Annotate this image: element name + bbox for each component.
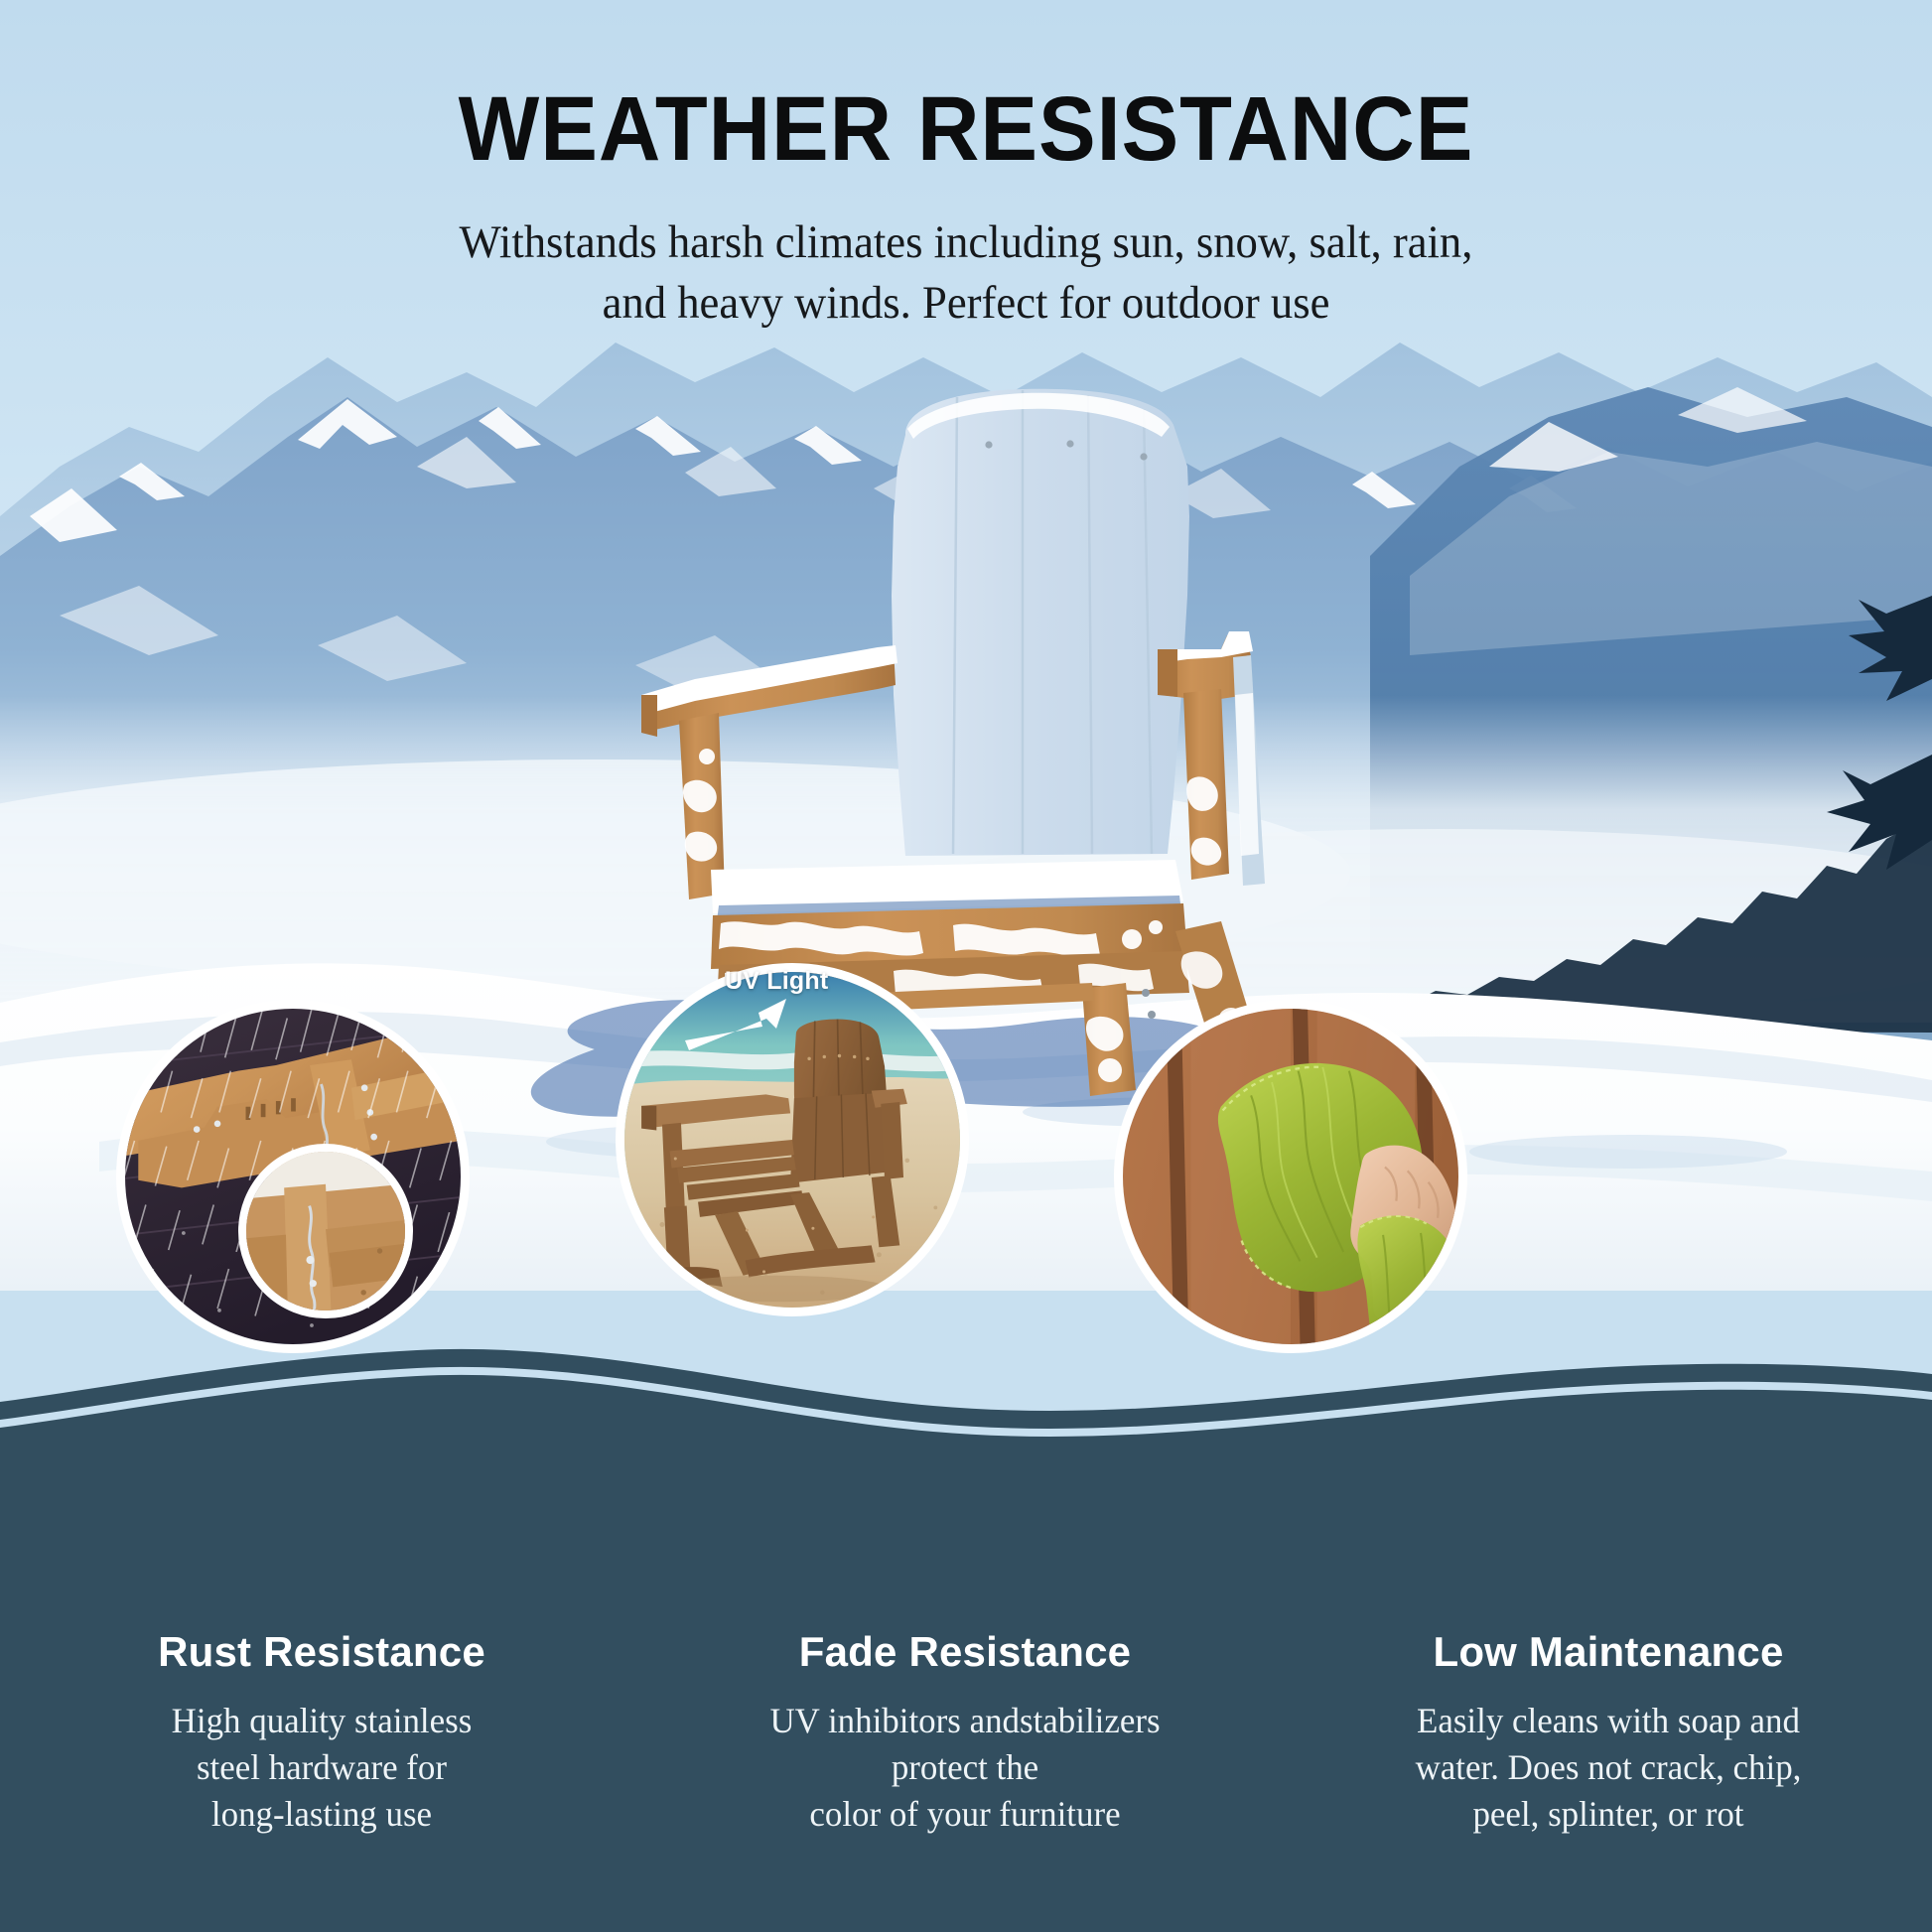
feature-image-rust-inset-detail <box>238 1144 413 1318</box>
subtitle-line-2: and heavy winds. Perfect for outdoor use <box>49 273 1884 334</box>
feature-desc-fade-line-1: UV inhibitors andstabilizers <box>678 1698 1252 1744</box>
feature-title-fade: Fade Resistance <box>669 1628 1261 1676</box>
feature-desc-rust-line-1: High quality stainless <box>35 1698 609 1744</box>
feature-rust-resistance: Rust Resistance High quality stainless s… <box>0 1628 643 1837</box>
feature-fade-resistance: Fade Resistance UV inhibitors andstabili… <box>643 1628 1287 1837</box>
feature-desc-rust-line-2: steel hardware for <box>35 1744 609 1791</box>
feature-desc-maintenance-line-3: peel, splinter, or rot <box>1321 1791 1895 1838</box>
weather-resistance-infographic: WEATHER RESISTANCE Withstands harsh clim… <box>0 0 1932 1932</box>
feature-desc-rust: High quality stainless steel hardware fo… <box>35 1698 609 1837</box>
feature-desc-fade: UV inhibitors andstabilizers protect the… <box>678 1698 1252 1837</box>
feature-title-rust: Rust Resistance <box>26 1628 618 1676</box>
feature-desc-maintenance: Easily cleans with soap and water. Does … <box>1321 1698 1895 1837</box>
feature-desc-fade-line-2: protect the <box>678 1744 1252 1791</box>
page-title: WEATHER RESISTANCE <box>58 83 1873 175</box>
page-subtitle: Withstands harsh climates including sun,… <box>49 212 1884 334</box>
feature-low-maintenance: Low Maintenance Easily cleans with soap … <box>1287 1628 1930 1837</box>
feature-title-maintenance: Low Maintenance <box>1312 1628 1904 1676</box>
header: WEATHER RESISTANCE Withstands harsh clim… <box>0 0 1932 334</box>
feature-desc-maintenance-line-2: water. Does not crack, chip, <box>1321 1744 1895 1791</box>
feature-image-low-maintenance <box>1114 1000 1467 1353</box>
hand-wiping-cloth-photo <box>1123 1009 1458 1344</box>
uv-light-arrow-icon <box>681 993 820 1062</box>
feature-desc-maintenance-line-1: Easily cleans with soap and <box>1321 1698 1895 1744</box>
chain-detail-photo <box>246 1152 405 1311</box>
features-row: Rust Resistance High quality stainless s… <box>0 1628 1932 1837</box>
feature-desc-rust-line-3: long-lasting use <box>35 1791 609 1838</box>
subtitle-line-1: Withstands harsh climates including sun,… <box>49 212 1884 273</box>
uv-light-label: UV Light <box>725 967 828 996</box>
feature-desc-fade-line-3: color of your furniture <box>678 1791 1252 1838</box>
